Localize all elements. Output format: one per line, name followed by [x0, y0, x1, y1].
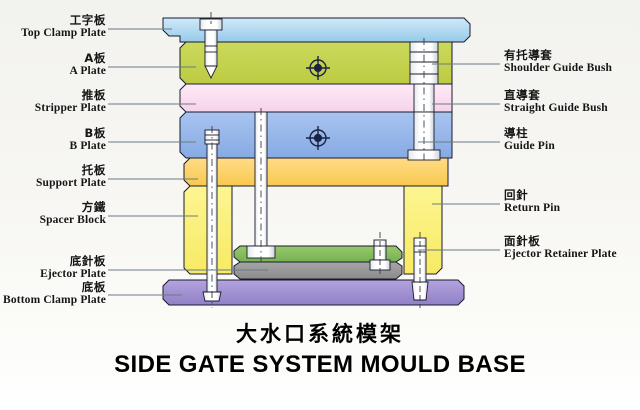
label-en: B Plate — [0, 141, 106, 153]
label-en: Shoulder Guide Bush — [504, 63, 612, 75]
label-support-plate: 托板 Support Plate — [0, 165, 106, 189]
diagram-page: 工字板 Top Clamp Plate A板 A Plate 推板 Stripp… — [0, 0, 640, 410]
label-en: Stripper Plate — [0, 103, 106, 115]
label-shoulder-guide-bush: 有托導套 Shoulder Guide Bush — [504, 50, 612, 74]
label-en: Bottom Clamp Plate — [0, 295, 106, 307]
label-en: Top Clamp Plate — [0, 28, 106, 40]
label-cn: 推板 — [0, 90, 106, 102]
label-en: Ejector Retainer Plate — [504, 249, 617, 261]
label-en: A Plate — [0, 66, 106, 78]
label-spacer-block: 方鐵 Spacer Block — [0, 202, 106, 226]
label-cn: A板 — [0, 53, 106, 65]
label-cn: 方鐵 — [0, 202, 106, 214]
label-a-plate: A板 A Plate — [0, 53, 106, 77]
label-en: Guide Pin — [504, 141, 555, 153]
label-b-plate: B板 B Plate — [0, 128, 106, 152]
title-cn: 大水口系統模架 — [0, 318, 640, 348]
label-cn: 底針板 — [0, 256, 106, 268]
label-cn: 導柱 — [504, 128, 555, 140]
label-straight-guide-bush: 直導套 Straight Guide Bush — [504, 90, 608, 114]
label-ejector-retainer-plate: 面針板 Ejector Retainer Plate — [504, 236, 617, 260]
label-cn: 回針 — [504, 190, 560, 202]
label-cn: 托板 — [0, 165, 106, 177]
label-stripper-plate: 推板 Stripper Plate — [0, 90, 106, 114]
plate-support-plate — [184, 158, 448, 186]
label-return-pin: 回針 Return Pin — [504, 190, 560, 214]
title-en: SIDE GATE SYSTEM MOULD BASE — [0, 351, 640, 379]
label-guide-pin: 導柱 Guide Pin — [504, 128, 555, 152]
label-en: Return Pin — [504, 203, 560, 215]
label-cn: 面針板 — [504, 236, 617, 248]
diagram-title: 大水口系統模架 SIDE GATE SYSTEM MOULD BASE — [0, 318, 640, 379]
label-en: Support Plate — [0, 178, 106, 190]
label-cn: 直導套 — [504, 90, 608, 102]
label-en: Straight Guide Bush — [504, 103, 608, 115]
label-cn: 底板 — [0, 282, 106, 294]
bottom-clamp-bolt-right — [412, 232, 428, 308]
label-bottom-clamp-plate: 底板 Bottom Clamp Plate — [0, 282, 106, 306]
label-cn: 有托導套 — [504, 50, 612, 62]
label-en: Spacer Block — [0, 215, 106, 227]
label-ejector-plate: 底針板 Ejector Plate — [0, 256, 106, 280]
label-cn: B板 — [0, 128, 106, 140]
plate-stripper-plate — [180, 84, 452, 112]
label-en: Ejector Plate — [0, 269, 106, 281]
label-cn: 工字板 — [0, 15, 106, 27]
label-top-clamp-plate: 工字板 Top Clamp Plate — [0, 15, 106, 39]
